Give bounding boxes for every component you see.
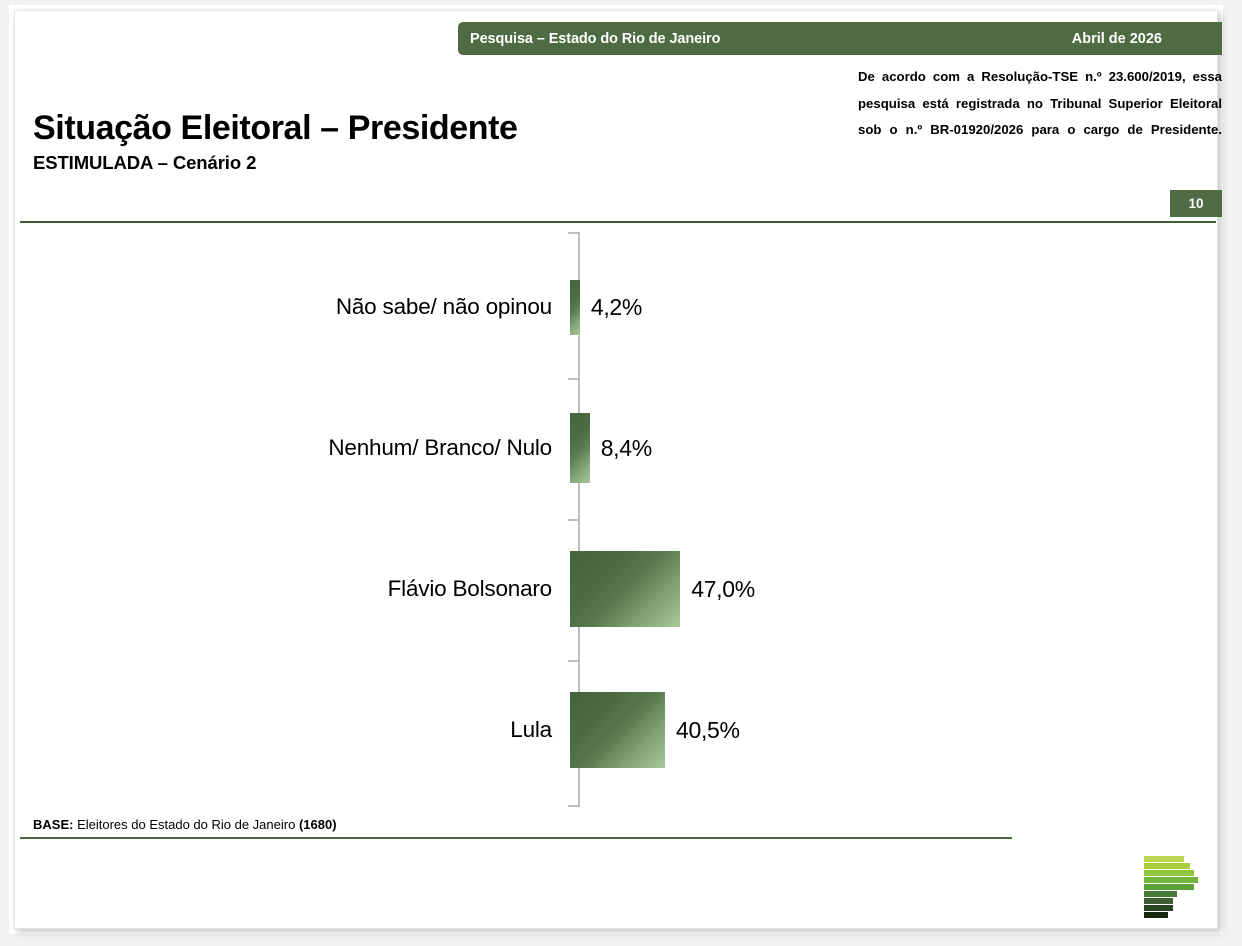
logo-bar-segment xyxy=(1144,877,1198,883)
chart-bar-category-label: Flávio Bolsonaro xyxy=(20,576,568,602)
chart-bar-category-label: Não sabe/ não opinou xyxy=(20,294,568,320)
chart-bar-value-label: 4,2% xyxy=(591,294,642,321)
chart-bar: 4,2% xyxy=(570,280,642,335)
page-title: Situação Eleitoral – Presidente ESTIMULA… xyxy=(33,108,518,176)
chart-bar-fill xyxy=(570,692,665,768)
base-count: (1680) xyxy=(299,817,337,832)
page-title-main: Situação Eleitoral – Presidente xyxy=(33,108,518,148)
chart-bar-row: Nenhum/ Branco/ Nulo8,4% xyxy=(20,413,1216,483)
logo-bar-segment xyxy=(1144,863,1190,869)
base-label: BASE: xyxy=(33,817,73,832)
header-survey-scope: Pesquisa – Estado do Rio de Janeiro xyxy=(470,31,720,47)
logo-bar-segment xyxy=(1144,912,1168,918)
chart-bar: 8,4% xyxy=(570,413,652,483)
chart-bar-category-label: Lula xyxy=(20,717,568,743)
chart-axis-tick xyxy=(568,660,579,662)
chart-bar-fill xyxy=(570,551,680,627)
header-band: Pesquisa – Estado do Rio de Janeiro Abri… xyxy=(458,22,1222,55)
chart-bar-row: Não sabe/ não opinou4,2% xyxy=(20,280,1216,335)
base-divider-rule xyxy=(20,837,1012,839)
page-number-badge: 10 xyxy=(1170,190,1222,217)
logo-bar-segment xyxy=(1144,898,1173,904)
base-footnote: BASE: Eleitores do Estado do Rio de Jane… xyxy=(33,817,337,832)
header-survey-date: Abril de 2026 xyxy=(1072,31,1204,47)
bar-chart: Não sabe/ não opinou4,2%Nenhum/ Branco/ … xyxy=(20,228,1216,810)
chart-bar-fill xyxy=(570,413,590,483)
logo-bar-segment xyxy=(1144,856,1184,862)
page-title-sub: ESTIMULADA – Cenário 2 xyxy=(33,150,518,176)
title-divider-rule xyxy=(20,221,1216,223)
chart-bar-row: Lula40,5% xyxy=(20,692,1216,768)
company-logo-icon xyxy=(1144,856,1200,918)
chart-bar-value-label: 47,0% xyxy=(691,576,755,603)
chart-bar-fill xyxy=(570,280,580,335)
chart-axis-tick xyxy=(568,805,579,807)
logo-bar-segment xyxy=(1144,870,1194,876)
chart-axis-tick xyxy=(568,232,579,234)
chart-axis-tick xyxy=(568,519,579,521)
legal-resolution-notice: De acordo com a Resolução-TSE n.º 23.600… xyxy=(858,64,1222,170)
logo-bar-segment xyxy=(1144,905,1173,911)
chart-bar-value-label: 40,5% xyxy=(676,717,740,744)
chart-axis-tick xyxy=(568,378,579,380)
logo-bar-segment xyxy=(1144,884,1194,890)
chart-bar: 47,0% xyxy=(570,551,755,627)
logo-bar-segment xyxy=(1144,891,1177,897)
chart-bar-row: Flávio Bolsonaro47,0% xyxy=(20,551,1216,627)
chart-bar-category-label: Nenhum/ Branco/ Nulo xyxy=(20,435,568,461)
chart-bar-value-label: 8,4% xyxy=(601,435,652,462)
chart-bar: 40,5% xyxy=(570,692,740,768)
base-text: Eleitores do Estado do Rio de Janeiro xyxy=(77,817,295,832)
slide-root: Pesquisa – Estado do Rio de Janeiro Abri… xyxy=(0,0,1242,946)
